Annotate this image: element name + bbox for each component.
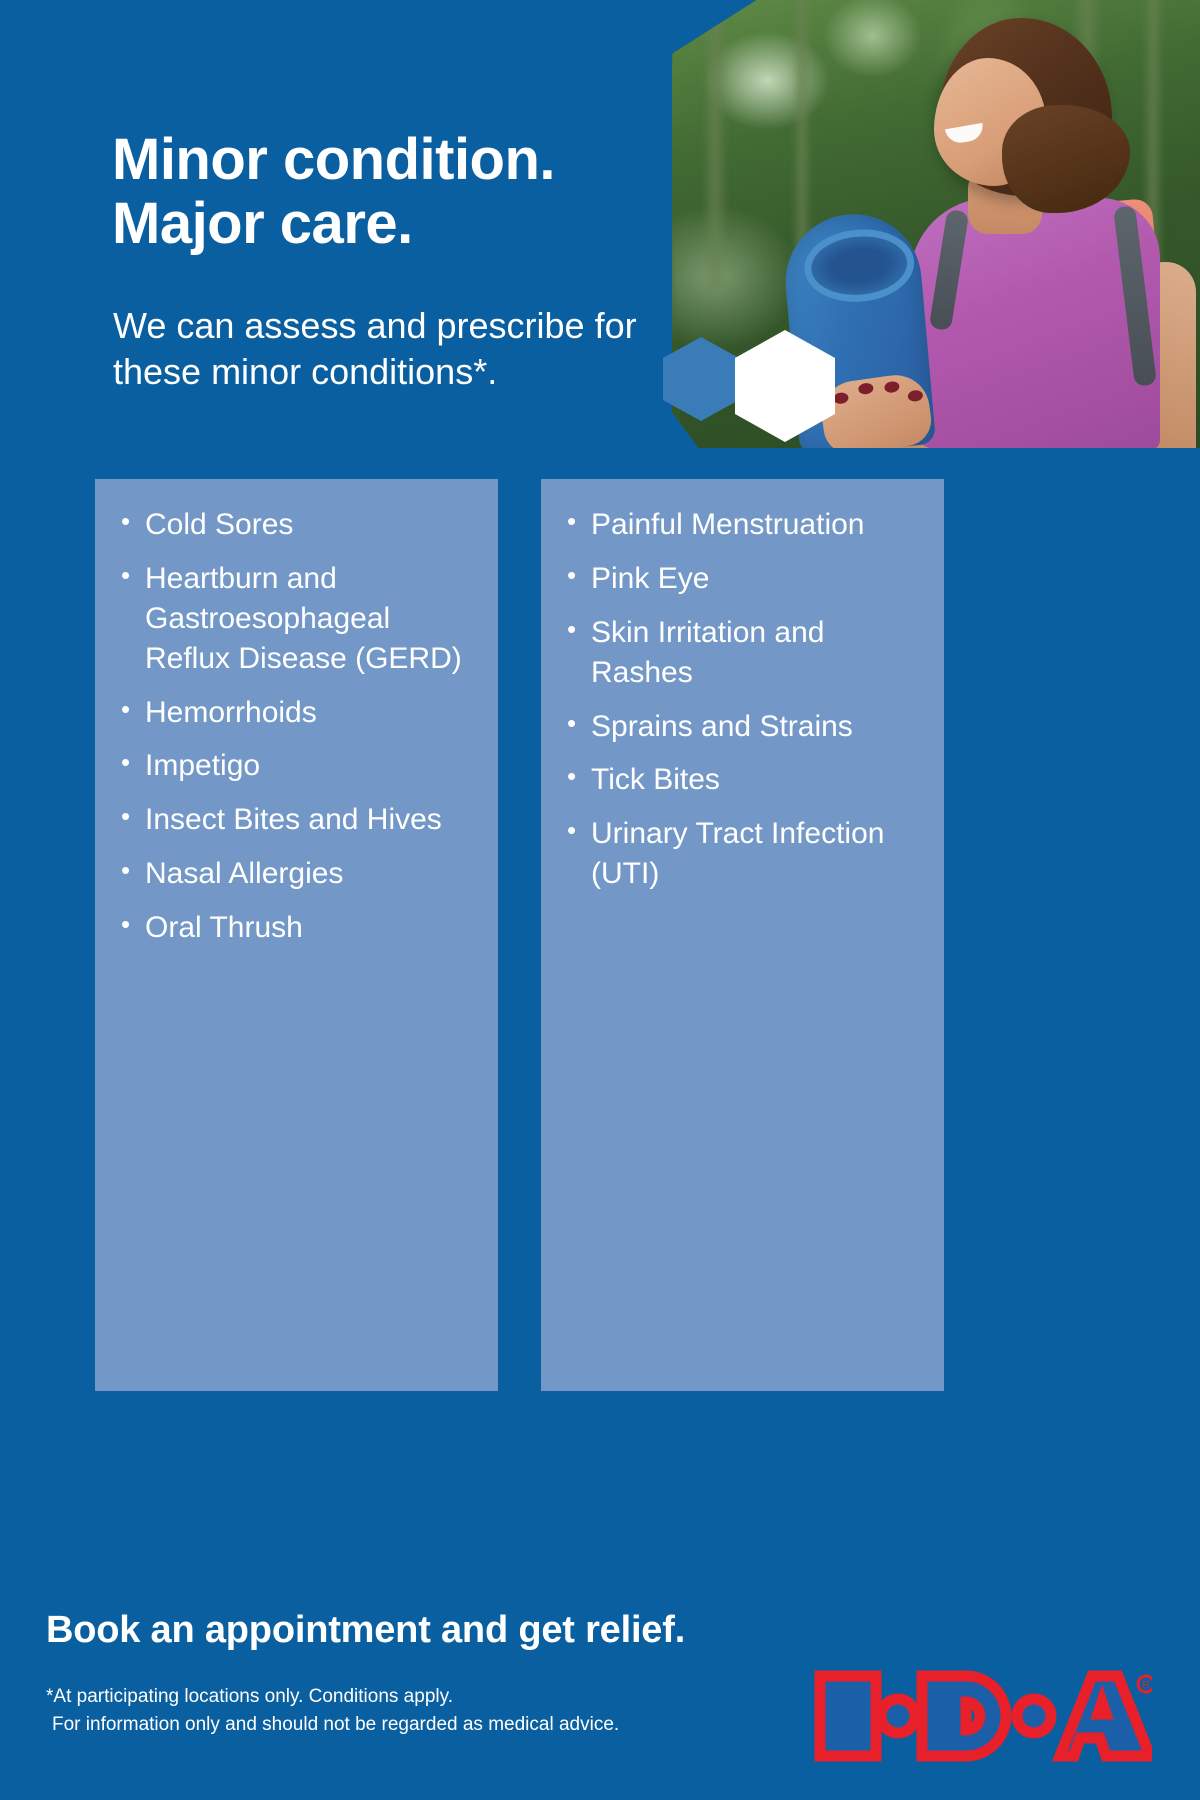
list-item: Heartburn and Gastroesophageal Reflux Di…	[117, 559, 476, 679]
page-title: Minor condition. Major care.	[112, 128, 692, 257]
list-item: Sprains and Strains	[563, 707, 922, 747]
list-item: Pink Eye	[563, 559, 922, 599]
conditions-list-right: Painful Menstruation Pink Eye Skin Irrit…	[541, 479, 944, 894]
list-item: Tick Bites	[563, 760, 922, 800]
poster-canvas: Minor condition. Major care. We can asse…	[0, 0, 1200, 1800]
list-item: Nasal Allergies	[117, 854, 476, 894]
ida-logo-mark: R	[812, 1662, 1152, 1770]
list-item: Oral Thrush	[117, 908, 476, 948]
disclaimer: *At participating locations only. Condit…	[46, 1683, 686, 1738]
fingernail	[884, 381, 900, 394]
headline-line-1: Minor condition.	[112, 128, 692, 192]
disclaimer-line-2: For information only and should not be r…	[46, 1711, 686, 1739]
fingernail	[907, 389, 923, 402]
yoga-mat-core	[801, 225, 917, 306]
headline-line-2: Major care.	[112, 192, 692, 256]
conditions-panel-left: Cold Sores Heartburn and Gastroesophagea…	[95, 479, 498, 1391]
list-item: Impetigo	[117, 746, 476, 786]
list-item: Painful Menstruation	[563, 505, 922, 545]
fingernail	[858, 382, 874, 395]
conditions-panel-right: Painful Menstruation Pink Eye Skin Irrit…	[541, 479, 944, 1391]
cta-text: Book an appointment and get relief.	[46, 1609, 685, 1652]
conditions-list-left: Cold Sores Heartburn and Gastroesophagea…	[95, 479, 498, 948]
tree-trunk	[702, 0, 728, 290]
subheadline: We can assess and prescribe for these mi…	[113, 303, 703, 395]
fingernail	[833, 392, 849, 405]
list-item: Hemorrhoids	[117, 693, 476, 733]
list-item: Cold Sores	[117, 505, 476, 545]
list-item: Urinary Tract Infection (UTI)	[563, 814, 922, 894]
list-item: Insect Bites and Hives	[117, 800, 476, 840]
ida-logo: R	[812, 1662, 1152, 1770]
svg-text:R: R	[1142, 1680, 1149, 1691]
disclaimer-line-1: *At participating locations only. Condit…	[46, 1683, 686, 1711]
list-item: Skin Irritation and Rashes	[563, 613, 922, 693]
